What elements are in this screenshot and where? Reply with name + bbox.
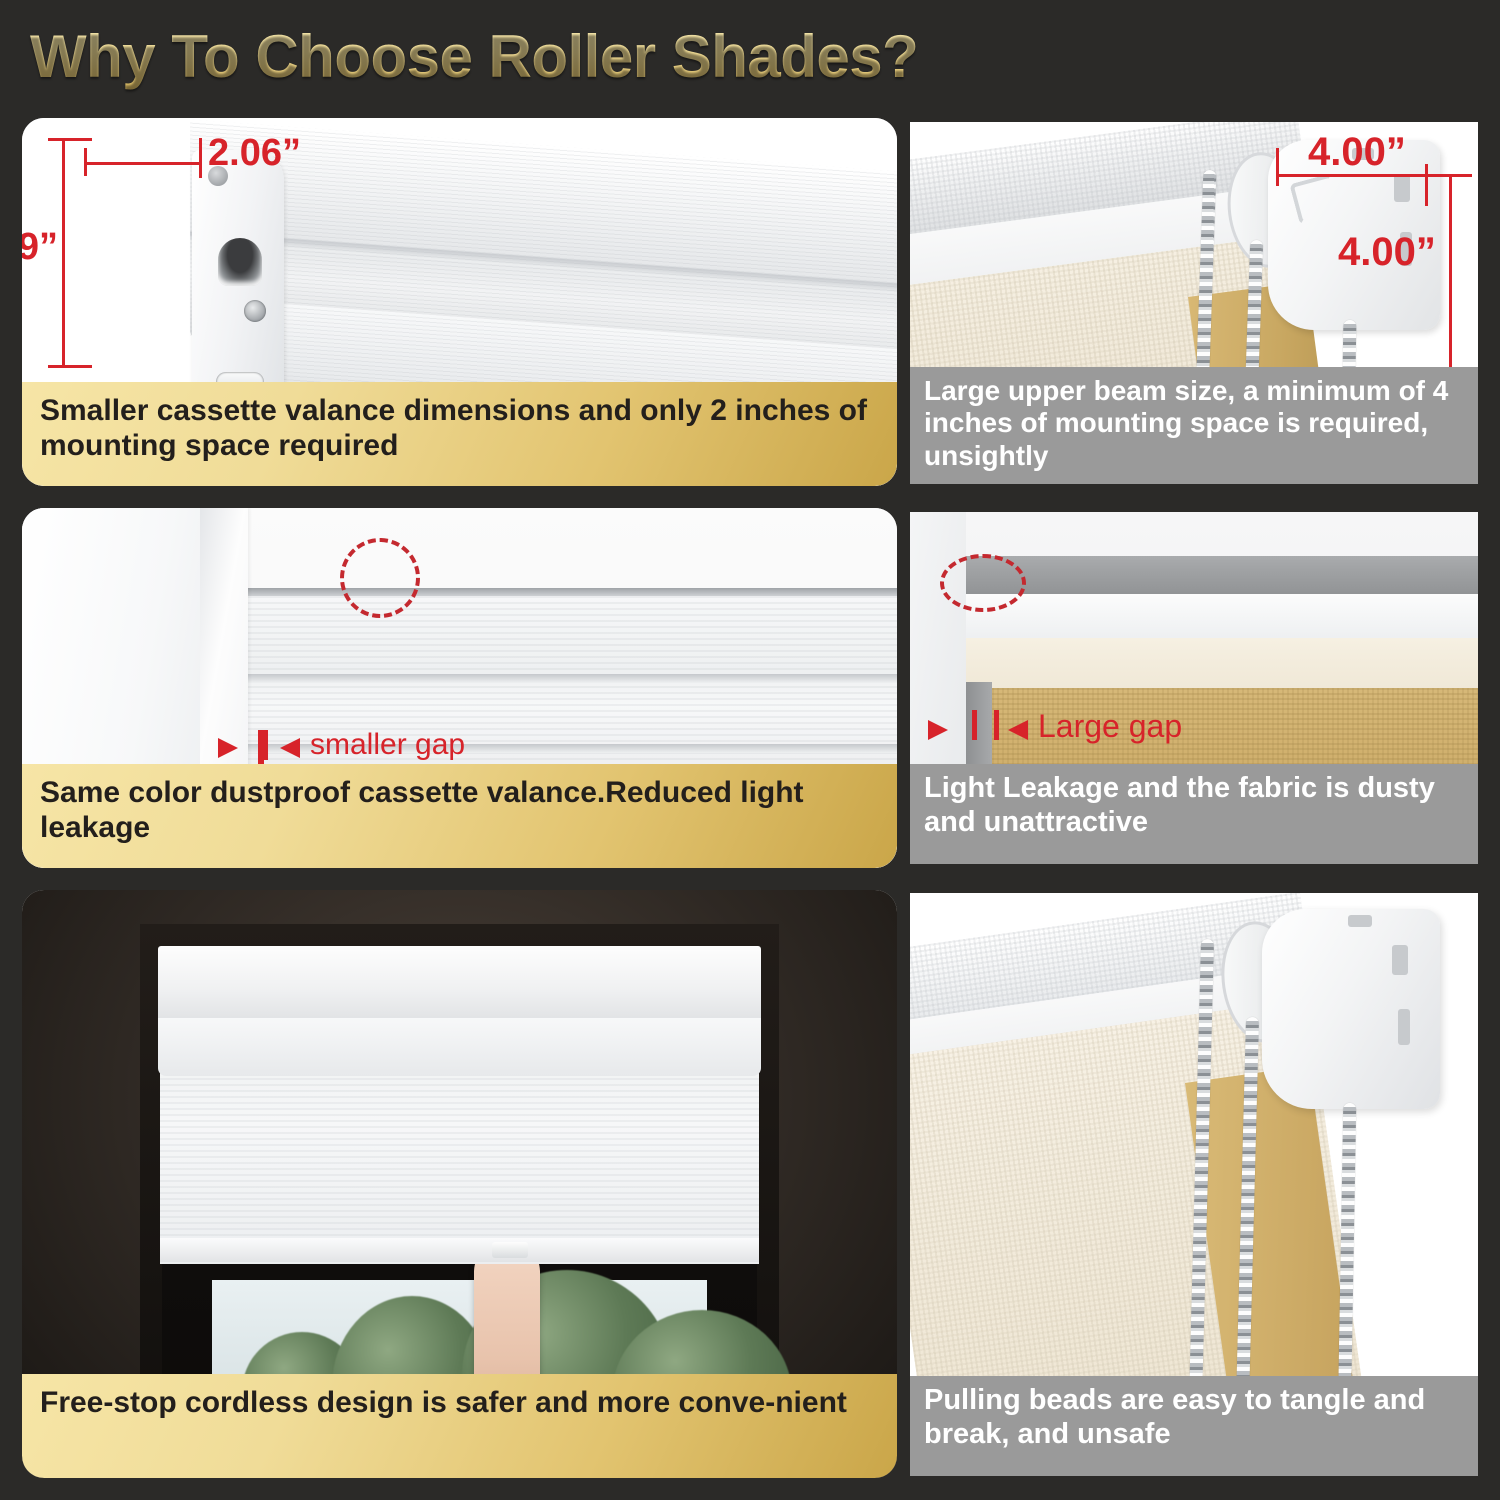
- width-dimension-tick-right: [199, 138, 202, 178]
- dark-beam-shadow: [966, 556, 1478, 598]
- gap-label: Large gap: [1038, 708, 1182, 745]
- height-dimension-line: [62, 138, 65, 368]
- panel-6-caption: Pulling beads are easy to tangle and bre…: [910, 1376, 1478, 1476]
- height-dimension-tick-bottom: [48, 365, 92, 368]
- beam-width-label: 4.00”: [1308, 130, 1406, 175]
- panel-cordless-design: Free-stop cordless design is safer and m…: [22, 890, 897, 1478]
- panel-1-caption: Smaller cassette valance dimensions and …: [22, 382, 897, 486]
- highlight-circle-icon: [340, 538, 420, 618]
- highlight-circle-icon: [940, 554, 1026, 612]
- width-dimension-line: [84, 162, 202, 165]
- bracket-hole-icon: [1394, 174, 1410, 202]
- bracket-slot-icon: [1398, 1009, 1410, 1045]
- beam-height-tick-top: [1428, 174, 1472, 177]
- gap-arrow-right-icon: [1008, 720, 1028, 740]
- cassette-valance: [158, 946, 761, 1024]
- panel-smaller-cassette: 2.06” 5.49” Smaller cassette valance dim…: [22, 118, 897, 486]
- shade-ridge-upper: [248, 674, 897, 683]
- bottom-rail: [160, 1238, 759, 1262]
- white-beam: [966, 594, 1478, 644]
- panel-3-caption: Same color dustproof cassette valance.Re…: [22, 764, 897, 868]
- gap-measure-tick-left: [972, 710, 977, 740]
- width-dimension-tick-left: [84, 148, 87, 176]
- beam-height-dimension-line: [1449, 174, 1452, 372]
- bracket-arrow-icon: [1289, 173, 1342, 225]
- beam-width-tick-left: [1276, 148, 1279, 186]
- panel-dustproof-valance: smaller gap Same color dustproof cassett…: [22, 508, 897, 868]
- gap-arrow-left-icon: [928, 720, 948, 740]
- height-dimension-label: 5.49”: [22, 226, 58, 269]
- beam-height-label: 4.00”: [1338, 230, 1436, 275]
- endcap-screw-middle-icon: [244, 300, 266, 322]
- panel-2-caption: Large upper beam size, a minimum of 4 in…: [910, 367, 1478, 484]
- pull-tab: [492, 1242, 528, 1258]
- height-dimension-tick-top: [48, 138, 92, 141]
- panel-large-upper-beam: 4.00” 4.00” Large upper beam size, a min…: [910, 122, 1478, 484]
- gap-measure-tick: [263, 730, 268, 760]
- width-dimension-label: 2.06”: [208, 132, 301, 175]
- endcap-slot-icon: [218, 238, 262, 286]
- gap-label: smaller gap: [310, 728, 465, 762]
- bracket-hole-icon: [1392, 945, 1408, 975]
- comparison-grid: 2.06” 5.49” Smaller cassette valance dim…: [0, 0, 1500, 1500]
- bracket-notch-icon: [1348, 915, 1372, 927]
- gap-measure-tick-right: [994, 710, 999, 740]
- cassette-valance-lower: [158, 1018, 761, 1076]
- panel-light-leakage: Large gap Light Leakage and the fabric i…: [910, 512, 1478, 864]
- mounting-bracket: [1262, 909, 1440, 1109]
- gap-arrow-left-icon: [218, 738, 238, 758]
- panel-5-caption: Free-stop cordless design is safer and m…: [22, 1374, 897, 1478]
- panel-pulling-beads: Pulling beads are easy to tangle and bre…: [910, 893, 1478, 1476]
- gap-arrow-right-icon: [280, 738, 300, 758]
- beam-width-tick-right: [1425, 164, 1428, 206]
- panel-4-caption: Light Leakage and the fabric is dusty an…: [910, 764, 1478, 864]
